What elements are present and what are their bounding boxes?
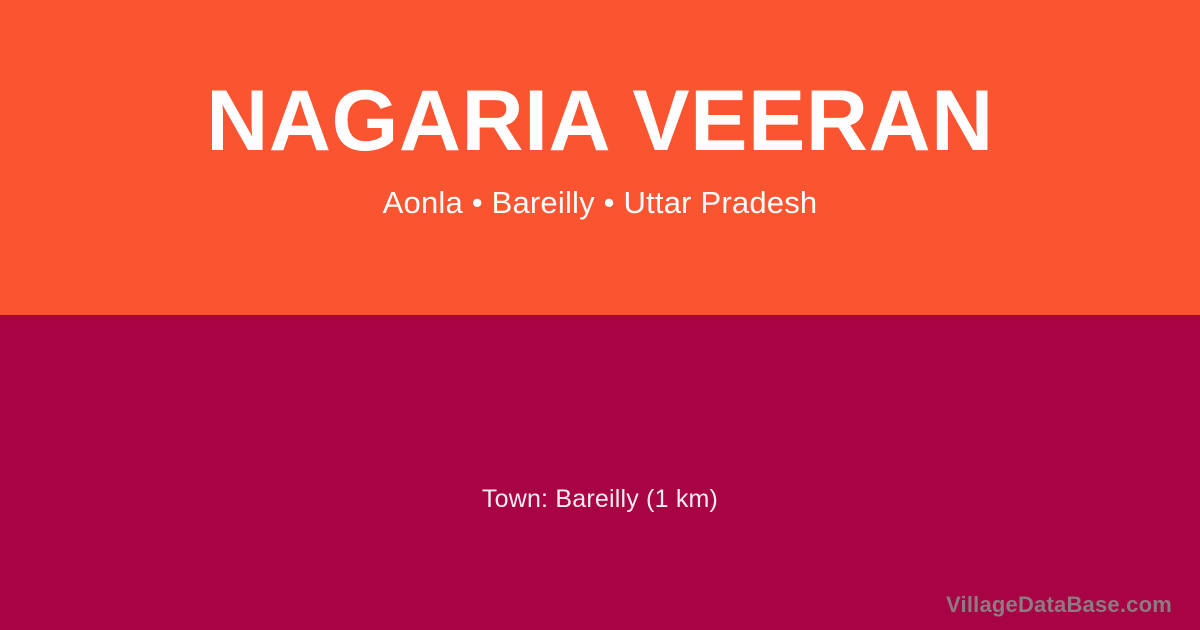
breadcrumb: Aonla • Bareilly • Uttar Pradesh bbox=[383, 186, 818, 220]
nearest-town-label: Town: Bareilly (1 km) bbox=[0, 485, 1200, 514]
site-watermark: VillageDataBase.com bbox=[946, 592, 1172, 618]
page-title: NAGARIA VEERAN bbox=[206, 78, 993, 164]
village-info-card: NAGARIA VEERAN Aonla • Bareilly • Uttar … bbox=[0, 0, 1200, 630]
hero-band: NAGARIA VEERAN Aonla • Bareilly • Uttar … bbox=[0, 0, 1200, 315]
detail-band: Town: Bareilly (1 km) bbox=[0, 315, 1200, 630]
